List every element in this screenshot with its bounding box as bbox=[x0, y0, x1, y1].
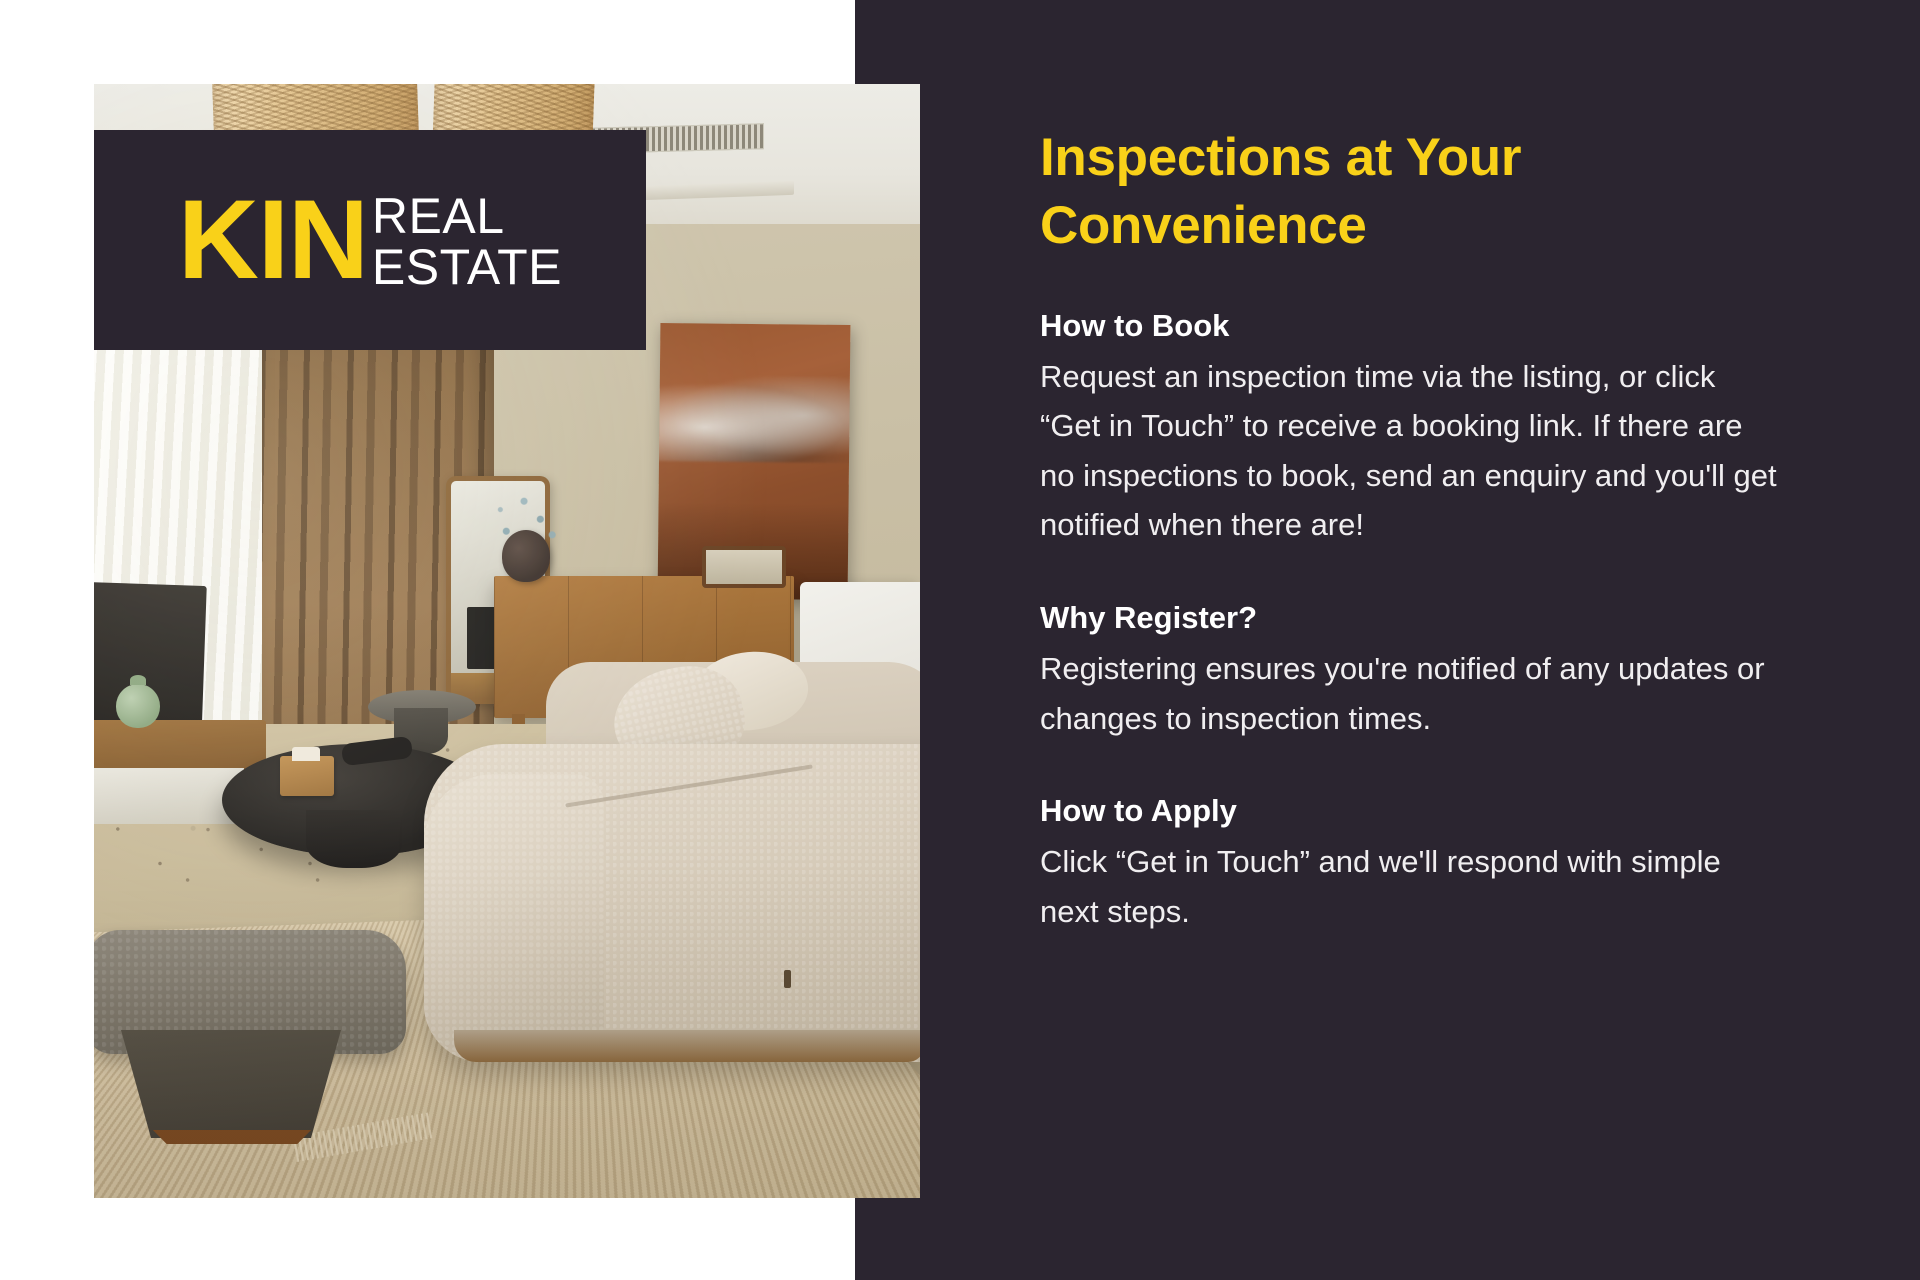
sofa-armrest bbox=[424, 774, 604, 1054]
sofa-plinth bbox=[454, 1030, 920, 1062]
page-title: Inspections at Your Convenience bbox=[1040, 124, 1680, 260]
logo-word-real: REAL bbox=[372, 191, 562, 242]
section-body: Click “Get in Touch” and we'll respond w… bbox=[1040, 837, 1780, 936]
info-content: Inspections at Your Convenience How to B… bbox=[1040, 124, 1780, 936]
logo-row: KIN REAL ESTATE bbox=[178, 187, 562, 293]
brand-logo: KIN REAL ESTATE bbox=[94, 130, 646, 350]
section-how-to-book: How to Book Request an inspection time v… bbox=[1040, 304, 1780, 550]
section-title: How to Apply bbox=[1040, 789, 1780, 834]
logo-brand-text: KIN bbox=[178, 190, 368, 291]
logo-word-estate: ESTATE bbox=[372, 242, 562, 293]
coffee-table-base bbox=[306, 810, 402, 868]
dried-flowers bbox=[490, 488, 564, 548]
sofa-brand-tag bbox=[784, 970, 791, 988]
ottoman-wooden-foot bbox=[146, 1130, 318, 1144]
section-body: Registering ensures you're notified of a… bbox=[1040, 644, 1780, 743]
section-title: How to Book bbox=[1040, 304, 1780, 349]
section-body: Request an inspection time via the listi… bbox=[1040, 352, 1780, 550]
green-teapot bbox=[116, 684, 160, 728]
tissue-box bbox=[280, 756, 334, 796]
logo-subtitle: REAL ESTATE bbox=[372, 187, 562, 293]
section-how-to-apply: How to Apply Click “Get in Touch” and we… bbox=[1040, 789, 1780, 936]
speaker-unit bbox=[702, 546, 786, 588]
section-why-register: Why Register? Registering ensures you're… bbox=[1040, 596, 1780, 743]
section-title: Why Register? bbox=[1040, 596, 1780, 641]
